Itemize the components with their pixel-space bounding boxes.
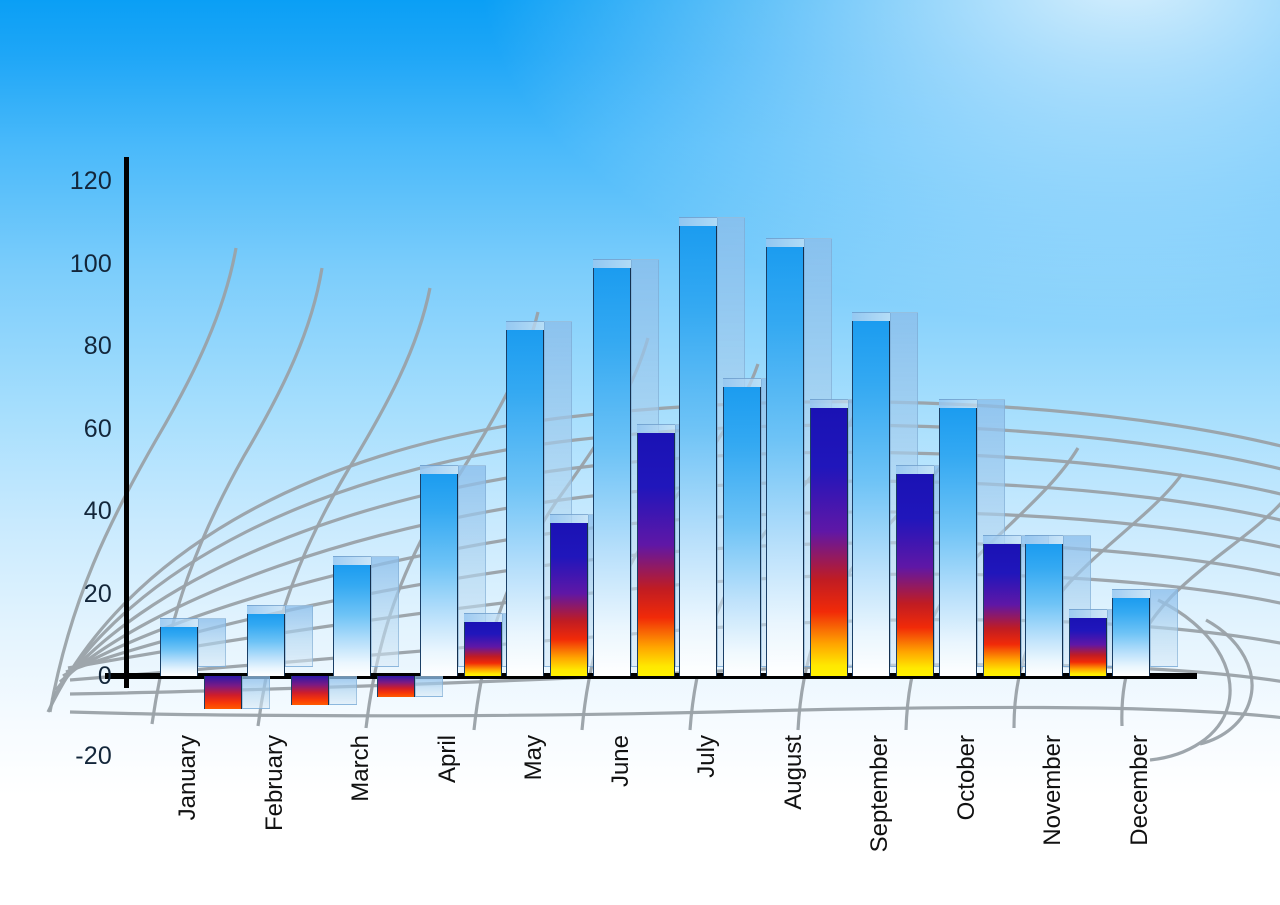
y-tick-120: 120 (70, 167, 112, 196)
bar-december-series1[interactable] (1112, 598, 1150, 676)
bar-front-face (852, 321, 890, 676)
bar-top-face (593, 259, 631, 268)
bar-top-face (550, 514, 588, 523)
bar-front-face (766, 247, 804, 676)
bar-august-series2[interactable] (810, 408, 848, 676)
y-tick-80: 80 (84, 332, 112, 361)
bar-june-series1[interactable] (593, 268, 631, 676)
bar-may-series2[interactable] (550, 523, 588, 676)
bar-top-face (247, 605, 285, 614)
y-tick-0: 0 (98, 662, 112, 691)
bar-april-series2[interactable] (464, 622, 502, 676)
bar-side-face (415, 676, 443, 697)
category-label-may: May (520, 735, 548, 780)
bar-top-face (723, 378, 761, 387)
bar-front-face (679, 226, 717, 676)
bar-top-face (506, 321, 544, 330)
bar-top-face (896, 465, 934, 474)
bar-march-series2[interactable] (377, 676, 415, 697)
bar-top-face (333, 556, 371, 565)
category-label-december: December (1126, 735, 1154, 846)
bar-january-series2[interactable] (204, 676, 242, 709)
bar-top-face (464, 613, 502, 622)
bar-september-series2[interactable] (896, 474, 934, 676)
bar-front-face (939, 408, 977, 676)
bar-front-face (1112, 598, 1150, 676)
bar-top-face (983, 535, 1021, 544)
bar-side-face (371, 556, 399, 667)
y-axis-tick-labels: 120 100 80 60 40 20 0 -20 (0, 0, 112, 905)
category-label-april: April (434, 735, 462, 783)
bar-side-face (285, 605, 313, 667)
y-tick-100: 100 (70, 250, 112, 279)
bar-november-series2[interactable] (1069, 618, 1107, 676)
bar-front-face (247, 614, 285, 676)
bar-front-face (1069, 618, 1107, 676)
category-label-july: July (693, 735, 721, 778)
bar-september-series1[interactable] (852, 321, 890, 676)
bar-top-face (766, 238, 804, 247)
bar-top-face (1112, 589, 1150, 598)
bar-may-series1[interactable] (506, 330, 544, 677)
bar-top-face (1025, 535, 1063, 544)
bar-top-face (810, 399, 848, 408)
category-label-june: June (607, 735, 635, 787)
bar-top-face (160, 618, 198, 627)
category-label-august: August (780, 735, 808, 810)
category-label-october: October (953, 735, 981, 820)
bar-side-face (1150, 589, 1178, 667)
bar-february-series2[interactable] (291, 676, 329, 705)
bar-front-face (377, 676, 415, 697)
y-tick-neg20: -20 (75, 742, 112, 771)
y-tick-60: 60 (84, 415, 112, 444)
bar-august-series1[interactable] (766, 247, 804, 676)
bar-front-face (983, 544, 1021, 676)
plot-area: 120 100 80 60 40 20 0 -20 JanuaryFebruar… (0, 0, 1280, 905)
y-axis-line (124, 157, 129, 688)
bar-front-face (464, 622, 502, 676)
bar-front-face (723, 387, 761, 676)
y-tick-40: 40 (84, 497, 112, 526)
bar-october-series2[interactable] (983, 544, 1021, 676)
bar-top-face (1069, 609, 1107, 618)
chart-canvas: 120 100 80 60 40 20 0 -20 JanuaryFebruar… (0, 0, 1280, 905)
bar-january-series1[interactable] (160, 627, 198, 677)
bar-february-series1[interactable] (247, 614, 285, 676)
bar-side-face (329, 676, 357, 705)
bar-top-face (637, 424, 675, 433)
bar-front-face (333, 565, 371, 676)
bar-top-face (852, 312, 890, 321)
bar-june-series2[interactable] (637, 433, 675, 676)
bar-front-face (896, 474, 934, 676)
bar-top-face (679, 217, 717, 226)
bar-front-face (637, 433, 675, 676)
bar-march-series1[interactable] (333, 565, 371, 676)
category-label-september: September (866, 735, 894, 852)
bar-front-face (291, 676, 329, 705)
category-label-january: January (174, 735, 202, 820)
bar-front-face (420, 474, 458, 676)
bar-april-series1[interactable] (420, 474, 458, 676)
bar-july-series1[interactable] (679, 226, 717, 676)
bar-front-face (810, 408, 848, 676)
bar-front-face (506, 330, 544, 677)
bar-top-face (420, 465, 458, 474)
bar-front-face (593, 268, 631, 676)
bar-front-face (1025, 544, 1063, 676)
bar-side-face (198, 618, 226, 668)
bar-front-face (160, 627, 198, 677)
bar-side-face (242, 676, 270, 709)
bar-front-face (204, 676, 242, 709)
bar-october-series1[interactable] (939, 408, 977, 676)
category-label-november: November (1039, 735, 1067, 846)
bar-november-series1[interactable] (1025, 544, 1063, 676)
category-label-march: March (347, 735, 375, 802)
bar-front-face (550, 523, 588, 676)
category-label-february: February (261, 735, 289, 831)
bar-top-face (939, 399, 977, 408)
bar-july-series2[interactable] (723, 387, 761, 676)
y-tick-20: 20 (84, 580, 112, 609)
